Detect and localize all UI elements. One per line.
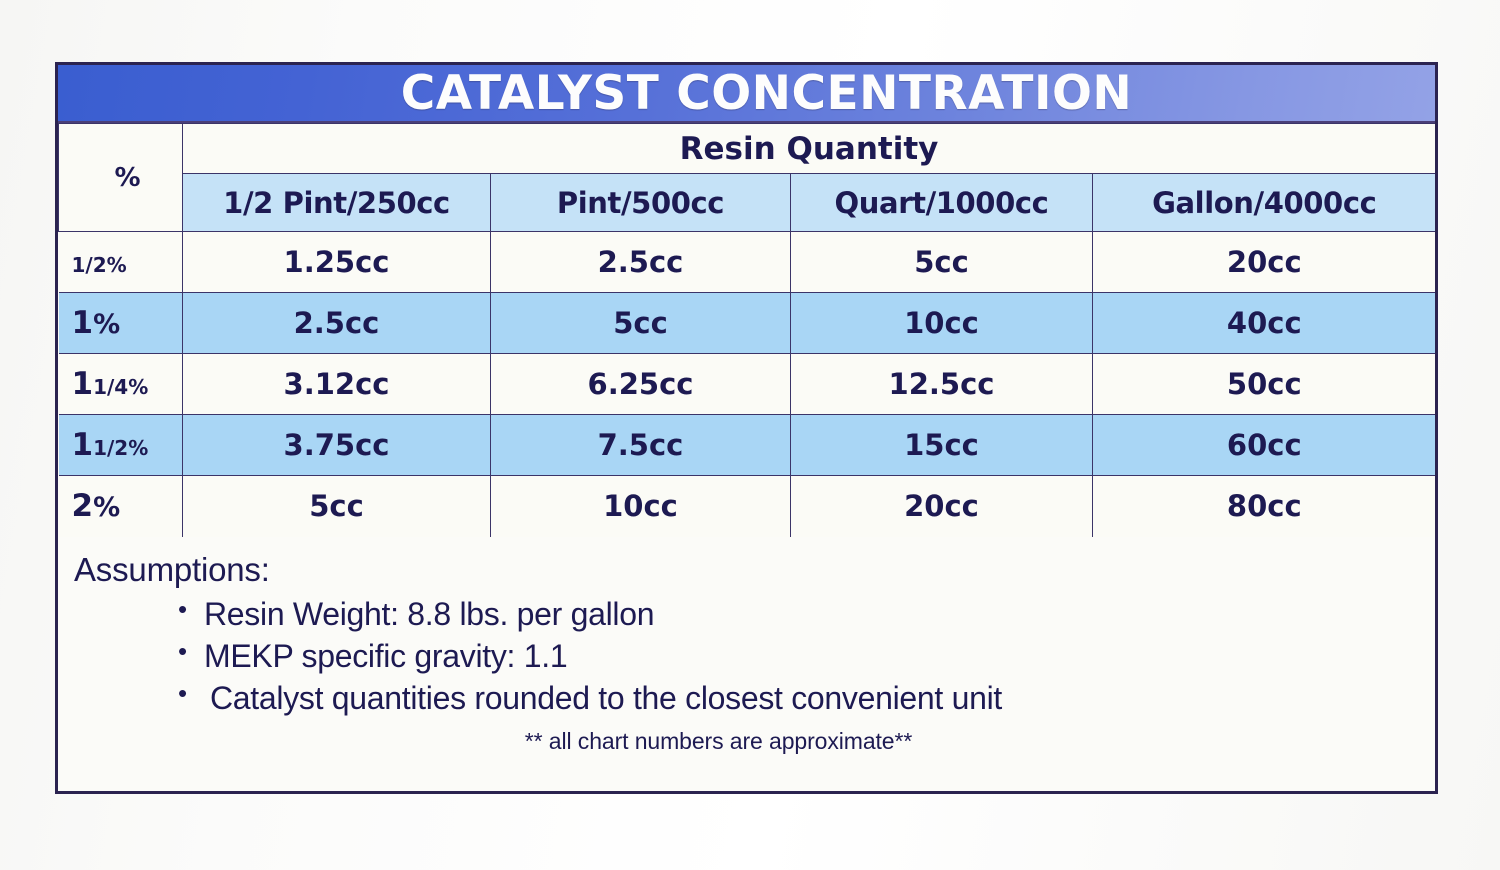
table-row: 11/4% 3.12cc 6.25cc 12.5cc 50cc <box>59 354 1436 415</box>
cell-value: 10cc <box>791 293 1093 354</box>
table-group-header-row: % Resin Quantity <box>59 124 1436 174</box>
cell-value: 20cc <box>1093 232 1436 293</box>
cell-value: 6.25cc <box>491 354 791 415</box>
assumption-text: Catalyst quantities rounded to the close… <box>210 680 1002 716</box>
row-label-half-percent: 1/2% <box>59 232 183 293</box>
row-label-one-and-quarter-percent: 11/4% <box>59 354 183 415</box>
column-header-pint: Pint/500cc <box>491 174 791 232</box>
header-resin-quantity: Resin Quantity <box>183 124 1436 174</box>
table-row: 1% 2.5cc 5cc 10cc 40cc <box>59 293 1436 354</box>
row-label-two-percent: 2% <box>59 476 183 537</box>
column-header-half-pint: 1/2 Pint/250cc <box>183 174 491 232</box>
cell-value: 12.5cc <box>791 354 1093 415</box>
table-column-header-row: 1/2 Pint/250cc Pint/500cc Quart/1000cc G… <box>59 174 1436 232</box>
table-row: 11/2% 3.75cc 7.5cc 15cc 60cc <box>59 415 1436 476</box>
column-header-quart: Quart/1000cc <box>791 174 1093 232</box>
header-percent-corner: % <box>59 124 183 232</box>
row-label-percent: % <box>128 436 148 460</box>
cell-value: 2.5cc <box>491 232 791 293</box>
row-label-one-percent: 1% <box>59 293 183 354</box>
row-label-fraction: 1/2 <box>93 436 128 460</box>
row-label-percent: % <box>107 253 127 277</box>
cell-value: 5cc <box>491 293 791 354</box>
list-item: •MEKP specific gravity: 1.1 <box>178 635 1435 677</box>
row-label-fraction: 1/2 <box>72 253 107 277</box>
cell-value: 50cc <box>1093 354 1436 415</box>
row-label-whole: 1 <box>72 305 94 341</box>
row-label-whole: 2 <box>72 488 94 524</box>
assumption-text: MEKP specific gravity: 1.1 <box>204 638 567 674</box>
cell-value: 7.5cc <box>491 415 791 476</box>
cell-value: 20cc <box>791 476 1093 537</box>
cell-value: 5cc <box>183 476 491 537</box>
row-label-whole: 1 <box>72 366 94 402</box>
column-header-gallon: Gallon/4000cc <box>1093 174 1436 232</box>
row-label-fraction: 1/4 <box>93 375 128 399</box>
row-label-percent: % <box>128 375 148 399</box>
row-label-percent: % <box>93 309 120 340</box>
list-item: •Resin Weight: 8.8 lbs. per gallon <box>178 593 1435 635</box>
cell-value: 40cc <box>1093 293 1436 354</box>
bullet-icon: • <box>178 634 187 668</box>
cell-value: 3.75cc <box>183 415 491 476</box>
table-body: % Resin Quantity 1/2 Pint/250cc Pint/500… <box>59 124 1436 537</box>
catalyst-concentration-table: % Resin Quantity 1/2 Pint/250cc Pint/500… <box>58 123 1436 537</box>
row-label-one-and-half-percent: 11/2% <box>59 415 183 476</box>
table-row: 1/2% 1.25cc 2.5cc 5cc 20cc <box>59 232 1436 293</box>
page-title: CATALYST CONCENTRATION <box>361 70 1132 117</box>
row-label-percent: % <box>93 492 120 523</box>
assumption-text: Resin Weight: 8.8 lbs. per gallon <box>204 596 654 632</box>
catalyst-concentration-card: CATALYST CONCENTRATION % Resin Quantity … <box>55 62 1438 794</box>
cell-value: 60cc <box>1093 415 1436 476</box>
row-label-whole: 1 <box>72 427 94 463</box>
bullet-icon: • <box>178 592 187 626</box>
cell-value: 1.25cc <box>183 232 491 293</box>
cell-value: 2.5cc <box>183 293 491 354</box>
card-title-bar: CATALYST CONCENTRATION <box>58 65 1435 123</box>
bullet-icon: • <box>178 676 187 710</box>
assumptions-title: Assumptions: <box>74 551 1435 589</box>
cell-value: 5cc <box>791 232 1093 293</box>
approximate-footnote: ** all chart numbers are approximate** <box>74 728 1435 755</box>
cell-value: 15cc <box>791 415 1093 476</box>
table-row: 2% 5cc 10cc 20cc 80cc <box>59 476 1436 537</box>
screenshot-root: CATALYST CONCENTRATION % Resin Quantity … <box>0 0 1500 870</box>
assumptions-section: Assumptions: •Resin Weight: 8.8 lbs. per… <box>58 537 1435 756</box>
cell-value: 10cc <box>491 476 791 537</box>
cell-value: 80cc <box>1093 476 1436 537</box>
assumptions-list: •Resin Weight: 8.8 lbs. per gallon •MEKP… <box>178 593 1435 720</box>
list-item: •Catalyst quantities rounded to the clos… <box>178 677 1435 719</box>
cell-value: 3.12cc <box>183 354 491 415</box>
